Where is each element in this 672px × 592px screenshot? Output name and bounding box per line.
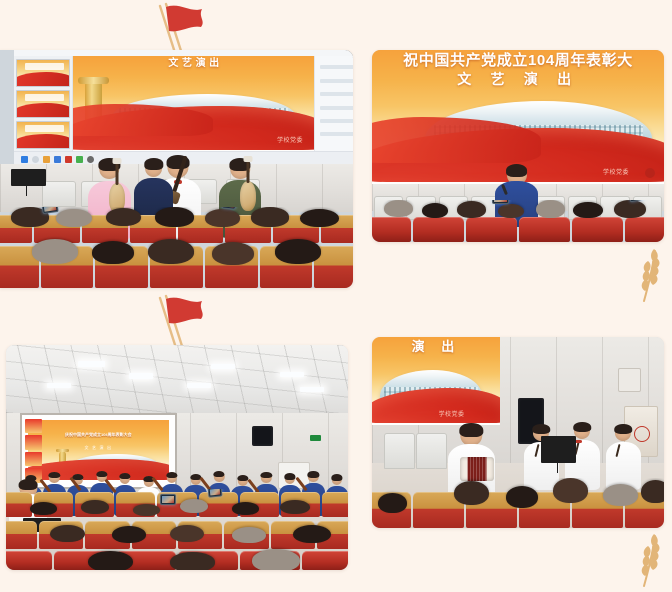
ppt-thumbnail	[16, 90, 70, 118]
photo-top-right[interactable]: 祝中国共产党成立104周年表彰大 文 艺 演 出 学校党委	[372, 50, 664, 242]
slide-subhead: 文 艺 演 出	[73, 58, 315, 71]
wheat-stalk-right-lower	[638, 530, 666, 590]
slide-subhead: 文 艺 演 出	[28, 445, 169, 451]
slide-headline: 祝中国共产党成立104周年表彰大	[403, 52, 633, 69]
audience-area	[372, 478, 664, 528]
led-screen: 演 出 学校党委	[372, 337, 500, 425]
audience-phone	[42, 207, 59, 214]
folder-icon	[43, 156, 50, 163]
chair	[416, 433, 447, 469]
photo-bottom-left[interactable]: 庆祝中国共产党成立104周年表彰大会 文 艺 演 出	[6, 345, 348, 570]
ppt-side-pane	[314, 56, 353, 152]
article-page: 文 艺 演 出 学校党委	[0, 0, 672, 592]
photo-bottom-right[interactable]: 演 出 学校党委	[372, 337, 664, 528]
slide-stamp: 学校党委	[439, 409, 465, 418]
wheat-stalk-right-upper	[638, 245, 666, 305]
led-screen: 文 艺 演 出 学校党委	[14, 50, 353, 164]
ppt-slide-rail	[14, 56, 73, 152]
chair	[42, 181, 76, 207]
slide-stamp: 学校党委	[277, 135, 303, 144]
audience-area	[6, 489, 348, 570]
wall-control-panel	[618, 368, 640, 393]
wechat-icon	[76, 156, 83, 163]
wall-speaker	[252, 426, 273, 446]
media-icon	[65, 156, 72, 163]
music-stand	[541, 436, 576, 463]
hall-ceiling	[6, 345, 348, 413]
audience-phone	[492, 200, 509, 204]
slide-headline-block: 祝中国共产党成立104周年表彰大 文 艺 演 出	[372, 51, 664, 88]
ppt-thumbnail	[16, 59, 70, 87]
browser-icon	[54, 156, 61, 163]
red-pennant-flag-middle	[146, 292, 216, 350]
start-icon	[21, 156, 28, 163]
photo-top-left[interactable]: 文 艺 演 出 学校党委	[0, 50, 353, 288]
ppt-thumbnail	[16, 121, 70, 149]
slide-stamp: 学校党委	[603, 167, 629, 176]
music-stand	[11, 169, 46, 186]
party-emblem-icon	[645, 168, 655, 178]
exit-sign-icon	[310, 435, 321, 441]
audience-area	[372, 200, 664, 242]
audience-phone	[160, 494, 176, 505]
slide-subhead: 演 出	[372, 339, 500, 356]
audience-area	[0, 207, 353, 288]
slide-canvas: 文 艺 演 出 学校党委	[73, 56, 315, 152]
slide-subhead: 文 艺 演 出	[372, 71, 664, 89]
search-icon	[32, 156, 39, 163]
chair	[384, 433, 415, 469]
slide-headline: 庆祝中国共产党成立104周年表彰大会	[28, 432, 169, 438]
